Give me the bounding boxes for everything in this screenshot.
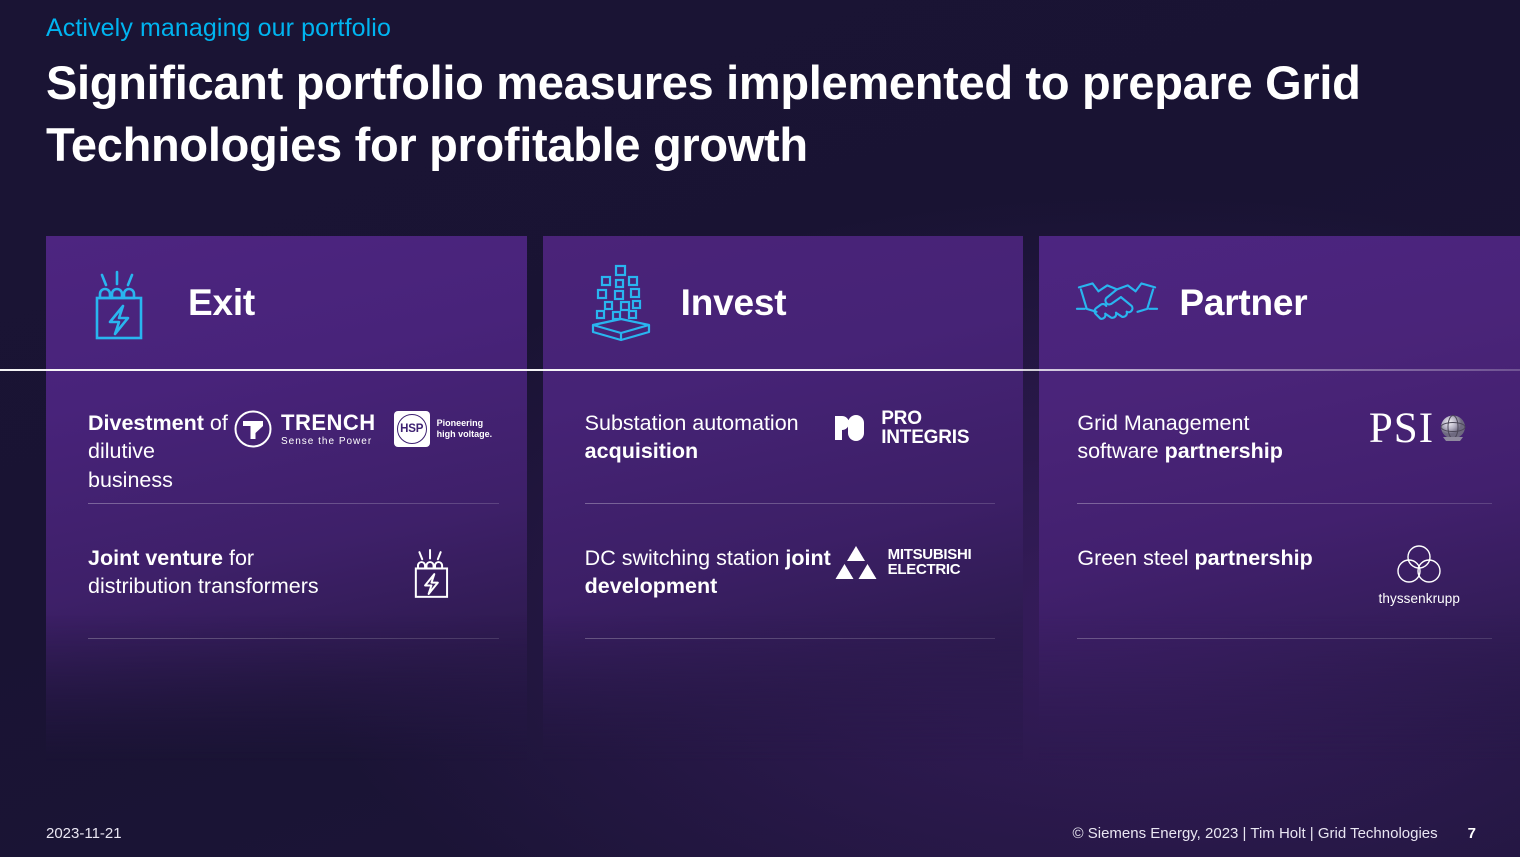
psi-globe-icon — [1436, 412, 1470, 446]
trench-tagline: Sense the Power — [281, 437, 376, 447]
row-rest-bold: acquisition — [585, 439, 698, 463]
header-divider-rule — [0, 369, 1520, 371]
card-partner-body: Grid Management software partnership PSI — [1039, 369, 1520, 761]
hsp-logo: HSP Pioneering high voltage. — [394, 411, 495, 447]
pro-integris-line1: PRO — [881, 409, 969, 428]
transformer-icon — [82, 264, 166, 342]
psi-wordmark: PSI — [1369, 407, 1434, 450]
footer-copyright: © Siemens Energy, 2023 | Tim Holt | Grid… — [1073, 825, 1438, 842]
card-exit-body: Divestment of dilutive business TRENCH S… — [46, 369, 527, 761]
list-item[interactable]: Joint venture for distribution transform… — [88, 504, 495, 639]
card-invest-row-1-logos: MITSUBISHI ELECTRIC — [834, 542, 972, 580]
card-partner-row-1-text: Green steel partnership — [1077, 542, 1312, 572]
slide-header: Actively managing our portfolio Signific… — [46, 12, 1446, 177]
row-lead: DC switching station — [585, 546, 786, 570]
slide-eyebrow: Actively managing our portfolio — [46, 12, 1446, 46]
list-item[interactable]: Grid Management software partnership PSI — [1077, 369, 1488, 504]
list-item[interactable]: Green steel partnership thyssenkrupp — [1077, 504, 1488, 639]
card-exit[interactable]: Exit Divestment of dilutive business TRE… — [46, 236, 527, 761]
mitsubishi-line2: ELECTRIC — [888, 562, 972, 577]
card-partner-title: Partner — [1179, 282, 1307, 324]
row-rest-bold: partnership — [1165, 439, 1283, 463]
row-lead-bold: Joint venture — [88, 546, 223, 570]
card-invest-row-0-text: Substation automation acquisition — [585, 407, 834, 466]
card-invest-row-1-text: DC switching station joint development — [585, 542, 834, 601]
thyssenkrupp-logo: thyssenkrupp — [1379, 544, 1461, 606]
row-lead: Substation automation — [585, 411, 799, 435]
data-platform-icon — [579, 263, 663, 343]
portfolio-cards: Exit Divestment of dilutive business TRE… — [46, 236, 1520, 761]
hsp-tagline: Pioneering high voltage. — [437, 418, 495, 441]
card-invest-body: Substation automation acquisition PRO IN… — [543, 369, 1024, 761]
list-item[interactable]: DC switching station joint development M… — [585, 504, 992, 639]
card-invest[interactable]: Invest Substation automation acquisition… — [543, 236, 1024, 761]
card-invest-row-0-logos: PRO INTEGRIS — [833, 407, 969, 447]
card-partner-header: Partner — [1039, 236, 1520, 369]
handshake-icon — [1075, 273, 1159, 333]
card-partner-row-0-text: Grid Management software partnership — [1077, 407, 1322, 466]
transformer-icon — [413, 544, 457, 600]
card-partner-row-0-logos: PSI — [1369, 407, 1470, 450]
thyssenkrupp-wordmark: thyssenkrupp — [1379, 591, 1461, 606]
card-exit-row-0-text: Divestment of dilutive business — [88, 407, 233, 494]
page-number: 7 — [1468, 825, 1476, 842]
page-title: Significant portfolio measures implement… — [46, 52, 1446, 177]
pro-integris-logo: PRO INTEGRIS — [833, 409, 969, 447]
card-invest-header: Invest — [543, 236, 1024, 369]
card-exit-row-1-text: Joint venture for distribution transform… — [88, 542, 343, 601]
card-exit-header: Exit — [46, 236, 527, 369]
card-exit-row-1-logos — [413, 542, 457, 600]
card-invest-title: Invest — [681, 282, 787, 324]
list-item[interactable]: Substation automation acquisition PRO IN… — [585, 369, 992, 504]
card-exit-title: Exit — [188, 282, 255, 324]
hsp-wordmark: HSP — [397, 414, 427, 444]
card-exit-row-0-logos: TRENCH Sense the Power HSP Pioneering hi… — [233, 407, 495, 449]
pro-integris-line2: INTEGRIS — [881, 428, 969, 447]
card-partner[interactable]: Partner Grid Management software partner… — [1039, 236, 1520, 761]
row-lead-bold: Divestment — [88, 411, 204, 435]
row-lead: Green steel — [1077, 546, 1194, 570]
psi-logo: PSI — [1369, 407, 1470, 450]
trench-logo — [233, 409, 273, 449]
card-partner-row-1-logos: thyssenkrupp — [1379, 542, 1461, 606]
footer-date: 2023-11-21 — [46, 825, 122, 842]
list-item[interactable]: Divestment of dilutive business TRENCH S… — [88, 369, 495, 504]
trench-wordmark: TRENCH — [281, 412, 376, 434]
mitsubishi-line1: MITSUBISHI — [888, 547, 972, 562]
row-rest-bold: partnership — [1194, 546, 1312, 570]
mitsubishi-electric-logo: MITSUBISHI ELECTRIC — [834, 544, 972, 580]
footer-right: © Siemens Energy, 2023 | Tim Holt | Grid… — [1073, 825, 1476, 842]
